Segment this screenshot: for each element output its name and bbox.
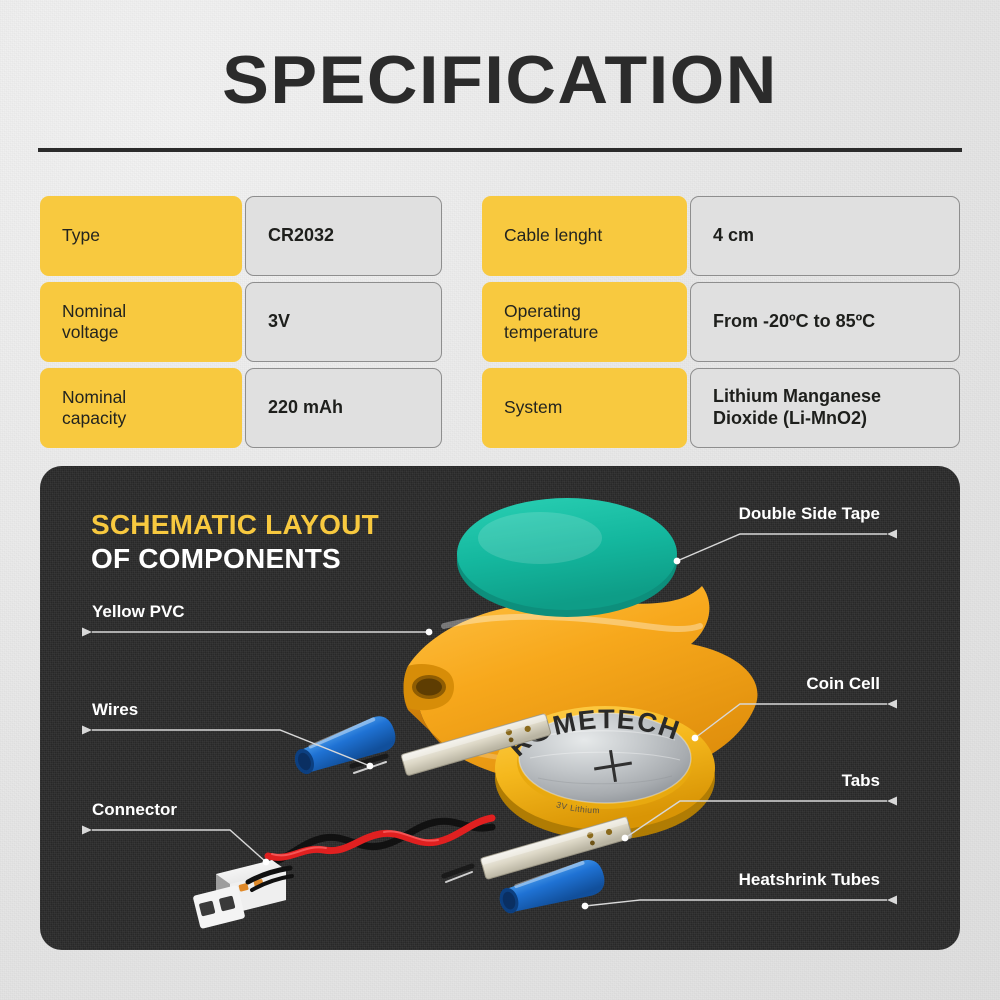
column-gap <box>442 282 482 362</box>
callout-yellow-pvc[interactable]: Yellow PVC <box>82 586 332 628</box>
callout-label: Wires <box>92 700 138 720</box>
callout-double-side-tape[interactable]: Double Side Tape <box>640 488 890 530</box>
tab-lower <box>480 817 632 880</box>
heatshrink-tube-lower <box>495 856 608 920</box>
battery-brand-text: ROMETECH <box>502 704 684 762</box>
spec-value: From -20ºC to 85ºC <box>690 282 960 362</box>
polarity-plus-icon <box>592 747 635 785</box>
callout-heatshrink-tubes[interactable]: Heatshrink Tubes <box>640 854 890 896</box>
callout-coin-cell[interactable]: Coin Cell <box>640 658 890 700</box>
callout-label: Connector <box>92 800 177 820</box>
callout-tabs[interactable]: Tabs <box>640 755 890 797</box>
spec-value: 3V <box>245 282 442 362</box>
spec-key: System <box>482 368 687 448</box>
spec-value: 220 mAh <box>245 368 442 448</box>
spec-key: Operating temperature <box>482 282 687 362</box>
page-title: SPECIFICATION <box>0 46 1000 114</box>
specification-table: Type CR2032 Cable lenght 4 cm Nominal vo… <box>40 196 960 448</box>
schematic-heading: SCHEMATIC LAYOUT OF COMPONENTS <box>91 509 379 575</box>
column-gap <box>442 368 482 448</box>
spec-key: Cable lenght <box>482 196 687 276</box>
connector <box>193 860 292 929</box>
spec-value: 4 cm <box>690 196 960 276</box>
tab-weld-wires <box>352 756 472 882</box>
battery-fine-print: 3V Lithium <box>555 799 600 815</box>
tab-upper <box>401 713 551 775</box>
schematic-heading-line1: SCHEMATIC LAYOUT <box>91 509 379 541</box>
callout-label: Coin Cell <box>806 674 880 694</box>
callout-connector[interactable]: Connector <box>82 784 332 826</box>
schematic-heading-line2: OF COMPONENTS <box>91 543 379 575</box>
spec-key: Type <box>40 196 242 276</box>
callout-label: Tabs <box>842 771 880 791</box>
column-gap <box>442 196 482 276</box>
callout-label: Yellow PVC <box>92 602 185 622</box>
spec-key: Nominal capacity <box>40 368 242 448</box>
title-divider <box>38 148 962 152</box>
spec-value: CR2032 <box>245 196 442 276</box>
spec-key: Nominal voltage <box>40 282 242 362</box>
callout-label: Double Side Tape <box>739 504 880 524</box>
callout-wires[interactable]: Wires <box>82 684 332 726</box>
callout-label: Heatshrink Tubes <box>739 870 880 890</box>
spec-value: Lithium Manganese Dioxide (Li-MnO2) <box>690 368 960 448</box>
schematic-panel: SCHEMATIC LAYOUT OF COMPONENTS <box>40 466 960 950</box>
